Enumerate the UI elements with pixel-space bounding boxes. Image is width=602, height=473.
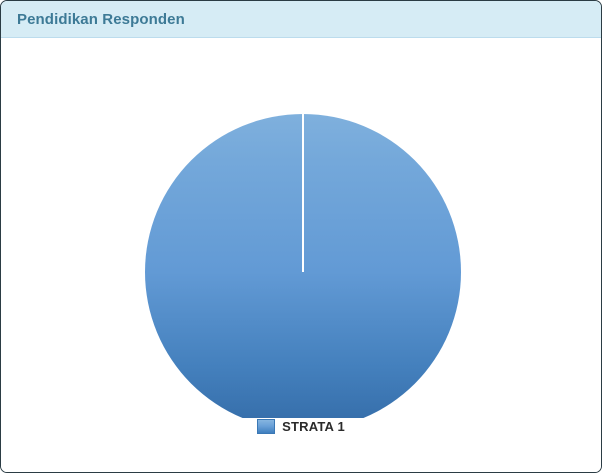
- page-title: Pendidikan Responden: [17, 12, 185, 27]
- legend-item-label: STRATA 1: [282, 420, 345, 433]
- legend-item-strata-1[interactable]: STRATA 1: [257, 419, 345, 434]
- card-header: Pendidikan Responden: [1, 1, 601, 38]
- chart-legend: STRATA 1: [1, 419, 601, 434]
- pie-chart-svg: [1, 38, 601, 418]
- legend-swatch-icon: [257, 419, 275, 434]
- pie-chart-card: Pendidikan Responden: [0, 0, 602, 473]
- pie-chart-area: [1, 38, 601, 418]
- card-body: STRATA 1: [1, 38, 601, 472]
